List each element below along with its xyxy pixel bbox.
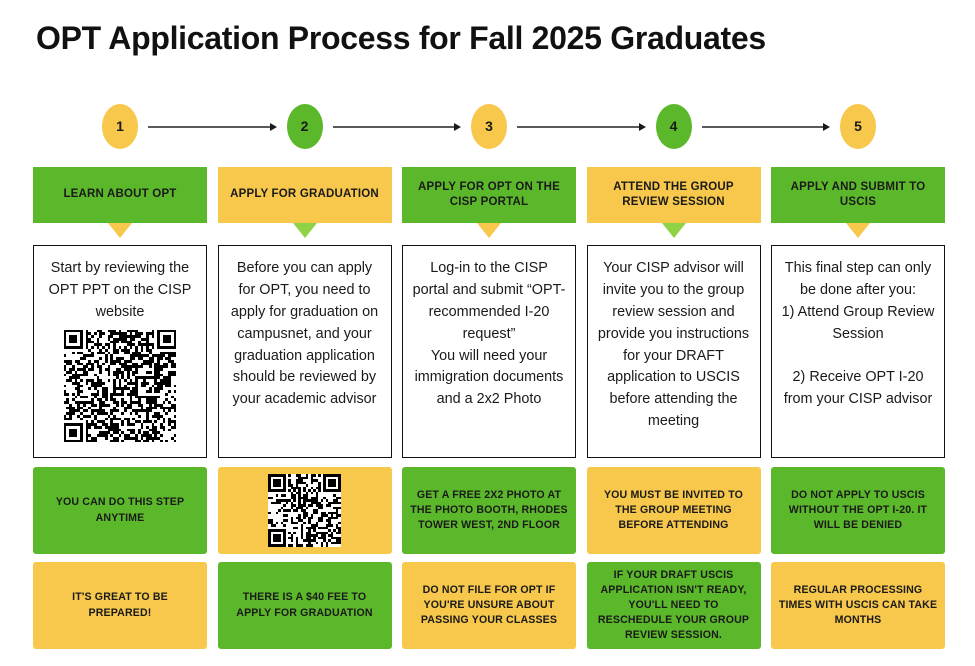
step-tip-2-2: THERE IS A $40 FEE TO APPLY FOR GRADUATI… xyxy=(218,562,392,649)
step-description-text: Log-in to the CISP portal and submit “OP… xyxy=(412,258,566,411)
down-arrow-icon xyxy=(477,223,501,238)
step-circle-5: 5 xyxy=(840,104,876,149)
down-arrow-icon xyxy=(293,223,317,238)
step-tip-row-2: IT'S GREAT TO BE PREPARED!THERE IS A $40… xyxy=(33,562,941,649)
connector-arrow-4-to-5 xyxy=(702,125,831,128)
infographic-root: OPT Application Process for Fall 2025 Gr… xyxy=(0,0,975,666)
step-tip-label: YOU MUST BE INVITED TO THE GROUP MEETING… xyxy=(594,488,754,533)
step-description-text: This final step can only be done after y… xyxy=(781,258,935,411)
connector-arrow-2-to-3 xyxy=(333,125,462,128)
step-tip-5-1: DO NOT APPLY TO USCIS WITHOUT THE OPT I-… xyxy=(771,467,945,554)
connector-line xyxy=(702,126,824,128)
step-tip-1-2: IT'S GREAT TO BE PREPARED! xyxy=(33,562,207,649)
qr-code-icon xyxy=(268,474,341,547)
step-description-row: Start by reviewing the OPT PPT on the CI… xyxy=(33,245,941,458)
step-header-1: LEARN ABOUT OPT xyxy=(33,167,207,223)
step-tip-4-2: IF YOUR DRAFT USCIS APPLICATION ISN'T RE… xyxy=(587,562,761,649)
step-header-label: APPLY FOR OPT ON THE CISP PORTAL xyxy=(410,180,568,211)
connector-line xyxy=(333,126,455,128)
down-arrow-icon xyxy=(662,223,686,238)
step-tip-label: DO NOT FILE FOR OPT IF YOU'RE UNSURE ABO… xyxy=(409,583,569,628)
step-description-4: Your CISP advisor will invite you to the… xyxy=(587,245,761,458)
step-tip-row-1: YOU CAN DO THIS STEP ANYTIMEGET A FREE 2… xyxy=(33,467,941,554)
connector-arrow-3-to-4 xyxy=(517,125,646,128)
step-tip-label: REGULAR PROCESSING TIMES WITH USCIS CAN … xyxy=(778,583,938,628)
step-tip-3-2: DO NOT FILE FOR OPT IF YOU'RE UNSURE ABO… xyxy=(402,562,576,649)
step-header-label: APPLY FOR GRADUATION xyxy=(230,187,379,202)
down-arrow-icon xyxy=(846,223,870,238)
step-header-5: APPLY AND SUBMIT TO USCIS xyxy=(771,167,945,223)
step-header-3: APPLY FOR OPT ON THE CISP PORTAL xyxy=(402,167,576,223)
step-tip-label: IF YOUR DRAFT USCIS APPLICATION ISN'T RE… xyxy=(594,568,754,643)
step-tip-label: IT'S GREAT TO BE PREPARED! xyxy=(40,590,200,620)
step-header-row: LEARN ABOUT OPTAPPLY FOR GRADUATIONAPPLY… xyxy=(33,167,941,240)
down-arrow-icon xyxy=(108,223,132,238)
connector-line xyxy=(517,126,639,128)
step-description-1: Start by reviewing the OPT PPT on the CI… xyxy=(33,245,207,458)
step-tip-label: YOU CAN DO THIS STEP ANYTIME xyxy=(40,495,200,525)
step-circle-3: 3 xyxy=(471,104,507,149)
step-header-label: LEARN ABOUT OPT xyxy=(63,187,176,202)
arrowhead-icon xyxy=(454,123,461,131)
step-circle-2: 2 xyxy=(287,104,323,149)
step-tip-3-1: GET A FREE 2X2 PHOTO AT THE PHOTO BOOTH,… xyxy=(402,467,576,554)
step-description-text: Your CISP advisor will invite you to the… xyxy=(597,258,751,433)
page-title: OPT Application Process for Fall 2025 Gr… xyxy=(36,20,766,57)
step-tip-5-2: REGULAR PROCESSING TIMES WITH USCIS CAN … xyxy=(771,562,945,649)
step-tip-label: DO NOT APPLY TO USCIS WITHOUT THE OPT I-… xyxy=(778,488,938,533)
step-header-label: ATTEND THE GROUP REVIEW SESSION xyxy=(595,180,753,211)
qr-code-icon xyxy=(64,330,177,443)
step-description-2: Before you can apply for OPT, you need t… xyxy=(218,245,392,458)
step-tip-2-1[interactable] xyxy=(218,467,392,554)
step-circle-4: 4 xyxy=(656,104,692,149)
step-tip-label: THERE IS A $40 FEE TO APPLY FOR GRADUATI… xyxy=(225,590,385,620)
step-description-text: Start by reviewing the OPT PPT on the CI… xyxy=(43,258,197,324)
step-number-row: 12345 xyxy=(33,103,941,149)
arrowhead-icon xyxy=(823,123,830,131)
connector-line xyxy=(148,126,270,128)
connector-arrow-1-to-2 xyxy=(148,125,277,128)
arrowhead-icon xyxy=(639,123,646,131)
step-description-5: This final step can only be done after y… xyxy=(771,245,945,458)
arrowhead-icon xyxy=(270,123,277,131)
step-header-label: APPLY AND SUBMIT TO USCIS xyxy=(779,180,937,211)
step-tip-label: GET A FREE 2X2 PHOTO AT THE PHOTO BOOTH,… xyxy=(409,488,569,533)
step-circle-1: 1 xyxy=(102,104,138,149)
step-description-text: Before you can apply for OPT, you need t… xyxy=(228,258,382,411)
step-description-3: Log-in to the CISP portal and submit “OP… xyxy=(402,245,576,458)
step-tip-4-1: YOU MUST BE INVITED TO THE GROUP MEETING… xyxy=(587,467,761,554)
step-header-2: APPLY FOR GRADUATION xyxy=(218,167,392,223)
step-header-4: ATTEND THE GROUP REVIEW SESSION xyxy=(587,167,761,223)
step-tip-1-1: YOU CAN DO THIS STEP ANYTIME xyxy=(33,467,207,554)
description-qr-holder[interactable] xyxy=(64,330,177,443)
